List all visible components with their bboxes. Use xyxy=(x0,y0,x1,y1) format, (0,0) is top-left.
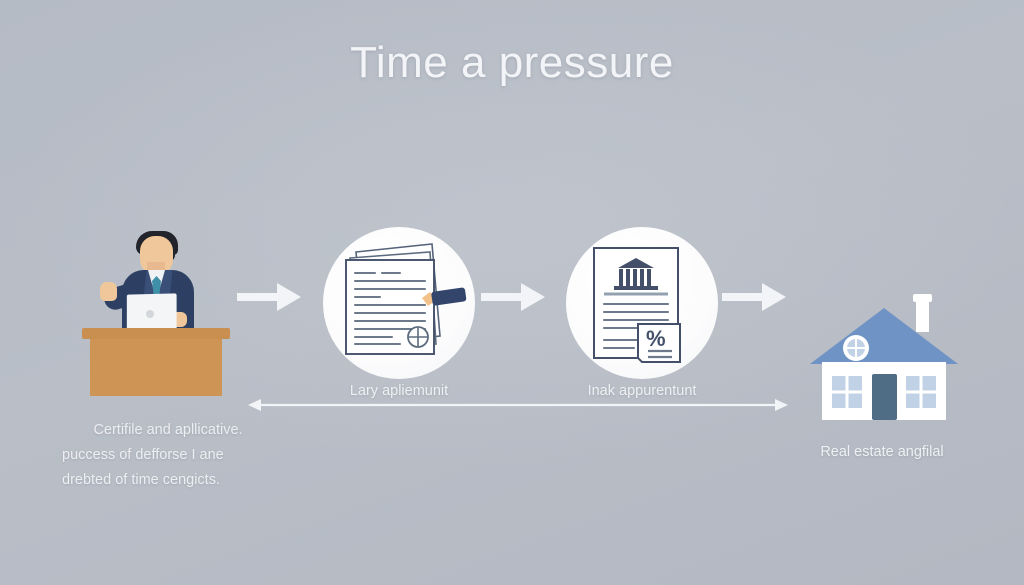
page-title: Time a pressure xyxy=(0,38,1024,88)
desk-top xyxy=(82,328,230,339)
left-caption-line-2: puccess of defforse I ane xyxy=(62,443,274,468)
desk-body xyxy=(90,339,222,396)
person-at-desk-icon xyxy=(78,228,233,396)
contract-documents-icon xyxy=(330,240,470,368)
chevron-right-arrow-icon xyxy=(237,277,303,317)
illustration-canvas: Time a pressure xyxy=(0,0,1024,585)
person-hand-left xyxy=(100,282,117,301)
house-icon xyxy=(800,292,968,424)
percent-symbol: % xyxy=(646,326,666,351)
laptop-logo xyxy=(146,310,154,318)
seal-stamp-icon xyxy=(408,327,428,347)
bank-document-percent-icon: % xyxy=(580,240,708,368)
left-caption-line-1: Certifile and apllicative. xyxy=(62,418,274,443)
step-label-property: Real estate angfilal xyxy=(782,444,982,460)
left-caption-line-3: drebted of time cengicts. xyxy=(62,468,274,493)
chevron-right-arrow-icon xyxy=(481,277,547,317)
chevron-right-arrow-icon xyxy=(722,277,788,317)
percent-card-icon: % xyxy=(638,324,680,362)
double-headed-arrow-icon xyxy=(248,396,788,414)
left-caption: Certifile and apllicative. puccess of de… xyxy=(62,418,274,493)
